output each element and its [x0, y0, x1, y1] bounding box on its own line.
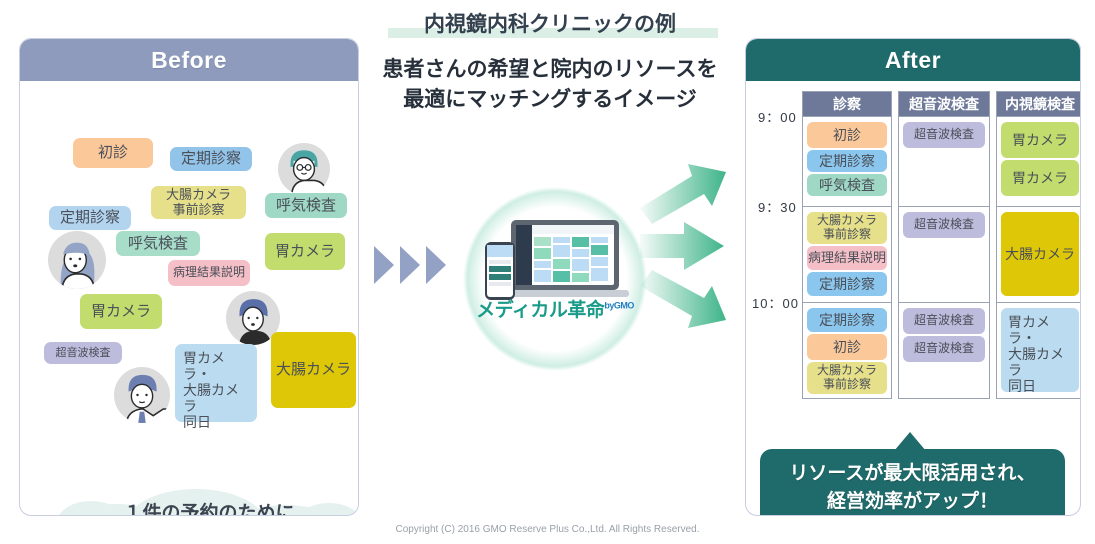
schedule-time-label: 10：00	[752, 293, 799, 312]
before-panel-header: Before	[20, 39, 358, 81]
schedule-appointment-chip[interactable]: 大腸カメラ	[1001, 212, 1079, 296]
before-tag[interactable]: 胃カメラ	[265, 233, 345, 270]
before-tag[interactable]: 大腸カメラ	[271, 332, 356, 408]
schedule-slot: 大腸カメラ事前診察病理結果説明定期診察	[803, 206, 891, 302]
product-logo-sub: byGMO	[604, 301, 634, 311]
schedule-appointment-chip[interactable]: 胃カメラ	[1001, 160, 1079, 196]
schedule-appointment-chip[interactable]: 定期診察	[807, 308, 887, 332]
before-tag[interactable]: 定期診察	[170, 147, 252, 171]
before-tag[interactable]: 呼気検査	[265, 193, 347, 218]
schedule-slot: 胃カメラ・大腸カメラ同日	[997, 302, 1081, 398]
schedule-appointment-chip[interactable]: 定期診察	[807, 272, 887, 296]
before-tag[interactable]: 病理結果説明	[168, 260, 250, 286]
schedule-column-header: 内視鏡検査	[997, 92, 1081, 116]
product-logo: メディカル革命byGMO	[470, 295, 640, 322]
schedule-slot: 超音波検査	[899, 116, 989, 206]
avatar-teal-glasses	[278, 143, 330, 195]
after-callout-text: リソースが最大限活用され、 経営効率がアップ！	[789, 460, 1035, 515]
slide-canvas: Before	[0, 0, 1095, 544]
schedule-appointment-chip[interactable]: 初診	[807, 334, 887, 360]
before-tag[interactable]: 大腸カメラ事前診察	[151, 186, 246, 219]
schedule-time-label: 9：30	[758, 197, 797, 216]
schedule-appointment-chip[interactable]: 胃カメラ	[1001, 122, 1079, 158]
page-title: 内視鏡内科クリニックの例	[370, 8, 730, 38]
schedule-column: 診察初診定期診察呼気検査大腸カメラ事前診察病理結果説明定期診察定期診察初診大腸カ…	[802, 91, 892, 399]
after-callout: リソースが最大限活用され、 経営効率がアップ！	[760, 449, 1065, 516]
schedule-appointment-chip[interactable]: 病理結果説明	[807, 246, 887, 270]
before-panel-body: 初診定期診察大腸カメラ事前診察呼気検査定期診察呼気検査胃カメラ病理結果説明胃カメ…	[20, 81, 358, 516]
before-cloud-text: １件の予約のために 確認すべき要素が多すぎる…	[46, 499, 359, 516]
avatar-long-hair	[48, 231, 106, 289]
schedule-appointment-chip[interactable]: 大腸カメラ事前診察	[807, 212, 887, 244]
schedule-slot: 大腸カメラ	[997, 206, 1081, 302]
before-panel: Before	[19, 38, 359, 516]
schedule-slot: 超音波検査超音波検査	[899, 302, 989, 398]
schedule-appointment-chip[interactable]: 超音波検査	[903, 212, 985, 238]
schedule-appointment-chip[interactable]: 大腸カメラ事前診察	[807, 362, 887, 394]
before-cloud-bubble: １件の予約のために 確認すべき要素が多すぎる…	[46, 481, 359, 516]
schedule-column-header: 診察	[803, 92, 891, 116]
before-tag[interactable]: 胃カメラ・大腸カメラ同日	[175, 344, 257, 422]
schedule-appointment-chip[interactable]: 胃カメラ・大腸カメラ同日	[1001, 308, 1079, 392]
product-logo-main: メディカル革命	[476, 300, 604, 321]
incoming-arrows-icon	[374, 242, 448, 288]
schedule-column: 内視鏡検査胃カメラ胃カメラ大腸カメラ胃カメラ・大腸カメラ同日	[996, 91, 1081, 399]
page-subtitle-line2: 最適にマッチングするイメージ	[368, 85, 732, 115]
after-panel-header: After	[746, 39, 1080, 81]
schedule-appointment-chip[interactable]: 超音波検査	[903, 308, 985, 334]
avatar-man-tie	[114, 367, 170, 423]
schedule-appointment-chip[interactable]: 呼気検査	[807, 174, 887, 196]
before-tag[interactable]: 超音波検査	[44, 342, 122, 364]
schedule-column-header: 超音波検査	[899, 92, 989, 116]
before-tag[interactable]: 胃カメラ	[80, 294, 162, 329]
after-panel: After 9：009：3010：00 診察初診定期診察呼気検査大腸カメラ事前診…	[745, 38, 1081, 516]
schedule-slot: 胃カメラ胃カメラ	[997, 116, 1081, 206]
schedule-slot: 超音波検査	[899, 206, 989, 302]
before-tag[interactable]: 初診	[73, 138, 153, 168]
schedule-time-label: 9：00	[758, 107, 797, 126]
schedule-appointment-chip[interactable]: 超音波検査	[903, 122, 985, 148]
schedule-column: 超音波検査超音波検査超音波検査超音波検査超音波検査	[898, 91, 990, 399]
schedule-slot: 初診定期診察呼気検査	[803, 116, 891, 206]
after-callout-line2: 経営効率がアップ！	[827, 491, 998, 512]
before-tag[interactable]: 定期診察	[49, 206, 131, 230]
schedule-appointment-chip[interactable]: 定期診察	[807, 150, 887, 172]
page-subtitle-line1: 患者さんの希望と院内のリソースを	[368, 55, 732, 85]
after-panel-title: After	[885, 47, 941, 74]
outgoing-arrows-icon	[640, 160, 760, 380]
after-callout-line1: リソースが最大限活用され、	[789, 463, 1035, 484]
schedule-slot: 定期診察初診大腸カメラ事前診察	[803, 302, 891, 398]
schedule-appointment-chip[interactable]: 超音波検査	[903, 336, 985, 362]
before-tag[interactable]: 呼気検査	[116, 231, 200, 256]
copyright-notice: Copyright (C) 2016 GMO Reserve Plus Co.,…	[0, 524, 1095, 535]
page-subtitle: 患者さんの希望と院内のリソースを 最適にマッチングするイメージ	[368, 55, 732, 116]
before-cloud-line1: １件の予約のために	[46, 499, 359, 516]
before-panel-title: Before	[151, 47, 227, 74]
schedule-appointment-chip[interactable]: 初診	[807, 122, 887, 148]
